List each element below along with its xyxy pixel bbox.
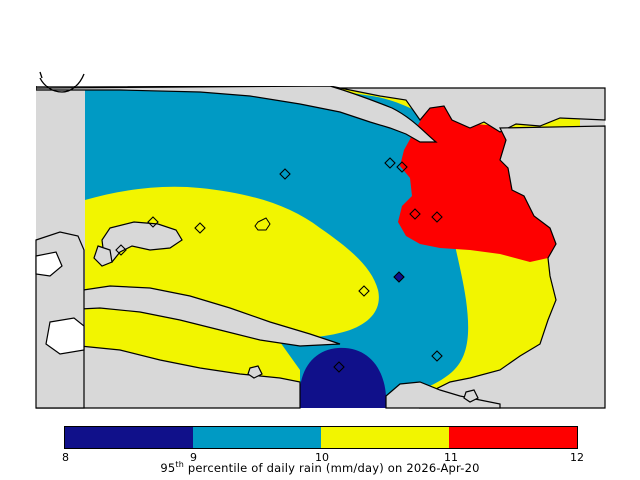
caption-pre: 95 xyxy=(160,461,175,475)
figure-canvas: VictoriaWeather.ca -- Summer Total Daily… xyxy=(0,0,640,480)
caption-post: percentile of daily rain (mm/day) on 202… xyxy=(184,461,480,475)
colorbar-segment-8-9 xyxy=(65,427,193,448)
land-outside-left-bay xyxy=(46,318,84,354)
caption-superscript: th xyxy=(175,460,184,469)
land-outside-left xyxy=(36,232,84,408)
map-plot xyxy=(0,0,640,480)
colorbar-caption: 95th percentile of daily rain (mm/day) o… xyxy=(0,460,640,475)
colorbar xyxy=(64,426,578,449)
colorbar-segment-10-11 xyxy=(321,427,449,448)
colorbar-segment-9-10 xyxy=(193,427,321,448)
colorbar-segment-11-12 xyxy=(449,427,577,448)
